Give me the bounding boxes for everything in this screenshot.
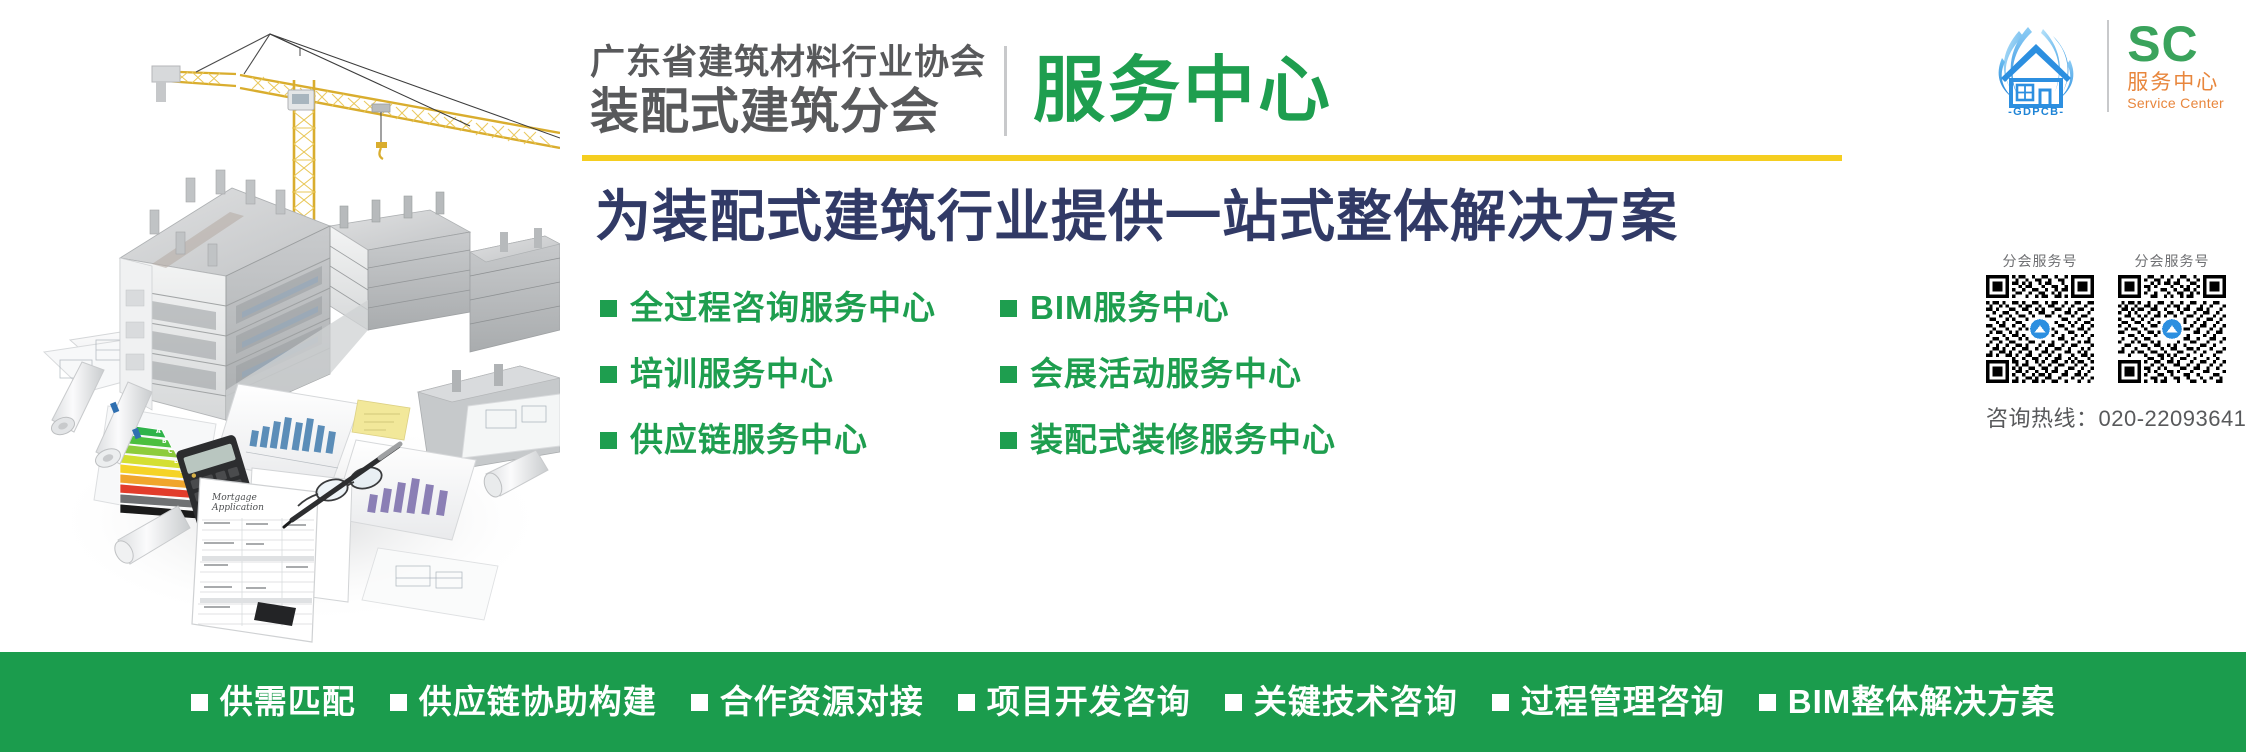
service-item-prefab-decoration[interactable]: 装配式装修服务中心 — [1000, 414, 1430, 466]
square-bullet-icon — [600, 300, 617, 317]
square-bullet-icon — [1000, 432, 1017, 449]
association-name-line2: 装配式建筑分会 — [590, 84, 986, 140]
service-item-consulting[interactable]: 全过程咨询服务中心 — [600, 282, 1000, 334]
association-name-line1: 广东省建筑材料行业协会 — [590, 42, 986, 84]
svg-text:A: A — [156, 428, 161, 435]
logo-lockup: -GDPCB- SC 服务中心 Service Center — [1983, 14, 2224, 118]
square-bullet-icon — [390, 694, 407, 711]
service-item-exhibition[interactable]: 会展活动服务中心 — [1000, 348, 1430, 400]
svg-text:Application: Application — [211, 503, 264, 513]
footer-item-label: BIM整体解决方案 — [1788, 682, 2056, 722]
services-left-column: 全过程咨询服务中心 培训服务中心 供应链服务中心 — [600, 282, 1000, 480]
square-bullet-icon — [600, 366, 617, 383]
square-bullet-icon — [1000, 300, 1017, 317]
service-item-label: 装配式装修服务中心 — [1030, 420, 1336, 460]
sc-chinese-label: 服务中心 — [2127, 70, 2219, 95]
qr-cell-1: 分会服务号 — [1986, 252, 2094, 383]
footer-item-project-development[interactable]: 项目开发咨询 — [958, 682, 1191, 722]
qr-caption: 分会服务号 — [1986, 252, 2094, 270]
footer-item-label: 关键技术咨询 — [1254, 682, 1458, 722]
association-names: 广东省建筑材料行业协会 装配式建筑分会 — [590, 42, 1004, 140]
page-headline: 为装配式建筑行业提供一站式整体解决方案 — [595, 184, 1678, 250]
qr-caption: 分会服务号 — [2118, 252, 2226, 270]
logo-vertical-divider — [2107, 20, 2109, 112]
hero-construction-image: ABC DEF GHI — [0, 0, 560, 652]
footer-bar: 供需匹配 供应链协助构建 合作资源对接 项目开发咨询 关键技术咨询 过程管理咨询… — [0, 652, 2246, 752]
gdpcb-logo: -GDPCB- — [1983, 14, 2089, 118]
services-list: 全过程咨询服务中心 培训服务中心 供应链服务中心 BIM服务中心 — [600, 282, 1740, 480]
sc-english-label: Service Center — [2127, 95, 2224, 112]
svg-text:C: C — [168, 448, 173, 455]
square-bullet-icon — [600, 432, 617, 449]
sc-logo: SC 服务中心 Service Center — [2127, 16, 2224, 116]
footer-item-label: 供应链协助构建 — [419, 682, 657, 722]
qr-block: 分会服务号 — [1986, 252, 2226, 433]
footer-item-label: 过程管理咨询 — [1521, 682, 1725, 722]
sc-letters: SC — [2127, 21, 2198, 68]
square-bullet-icon — [1759, 694, 1776, 711]
footer-item-partner-resource[interactable]: 合作资源对接 — [691, 682, 924, 722]
footer-item-supply-demand-matching[interactable]: 供需匹配 — [191, 682, 356, 722]
qr-code-icon[interactable] — [1986, 275, 2094, 383]
svg-text:B: B — [162, 438, 167, 445]
square-bullet-icon — [1000, 366, 1017, 383]
footer-item-supply-chain-build[interactable]: 供应链协助构建 — [390, 682, 657, 722]
banner-root: ABC DEF GHI — [0, 0, 2246, 752]
service-item-label: 会展活动服务中心 — [1030, 354, 1302, 394]
house-flame-icon — [1983, 22, 2089, 108]
service-item-label: 培训服务中心 — [630, 354, 834, 394]
svg-text:Mortgage: Mortgage — [211, 493, 257, 503]
service-center-title: 服务中心 — [1007, 42, 1333, 140]
square-bullet-icon — [1492, 694, 1509, 711]
square-bullet-icon — [191, 694, 208, 711]
footer-item-label: 供需匹配 — [220, 682, 356, 722]
service-item-training[interactable]: 培训服务中心 — [600, 348, 1000, 400]
gdpcb-wordmark: -GDPCB- — [2008, 106, 2064, 118]
service-item-label: 全过程咨询服务中心 — [630, 288, 936, 328]
content-area: 广东省建筑材料行业协会 装配式建筑分会 服务中心 为装配式建筑行业提供一站式整体… — [560, 0, 2246, 652]
hotline-text: 咨询热线：020-22093641 — [1986, 405, 2226, 433]
footer-item-key-technology[interactable]: 关键技术咨询 — [1225, 682, 1458, 722]
service-item-bim[interactable]: BIM服务中心 — [1000, 282, 1430, 334]
footer-item-label: 合作资源对接 — [720, 682, 924, 722]
square-bullet-icon — [1225, 694, 1242, 711]
services-right-column: BIM服务中心 会展活动服务中心 装配式装修服务中心 — [1000, 282, 1430, 480]
title-block: 广东省建筑材料行业协会 装配式建筑分会 服务中心 — [590, 42, 1333, 140]
qr-row: 分会服务号 — [1986, 252, 2226, 383]
footer-item-label: 项目开发咨询 — [987, 682, 1191, 722]
footer-item-process-management[interactable]: 过程管理咨询 — [1492, 682, 1725, 722]
gold-divider-rule — [582, 155, 1842, 161]
square-bullet-icon — [691, 694, 708, 711]
qr-cell-2: 分会服务号 — [2118, 252, 2226, 383]
square-bullet-icon — [958, 694, 975, 711]
qr-code-icon[interactable] — [2118, 275, 2226, 383]
service-item-label: 供应链服务中心 — [630, 420, 868, 460]
footer-item-bim-solution[interactable]: BIM整体解决方案 — [1759, 682, 2056, 722]
service-item-supply-chain[interactable]: 供应链服务中心 — [600, 414, 1000, 466]
service-item-label: BIM服务中心 — [1030, 288, 1230, 328]
